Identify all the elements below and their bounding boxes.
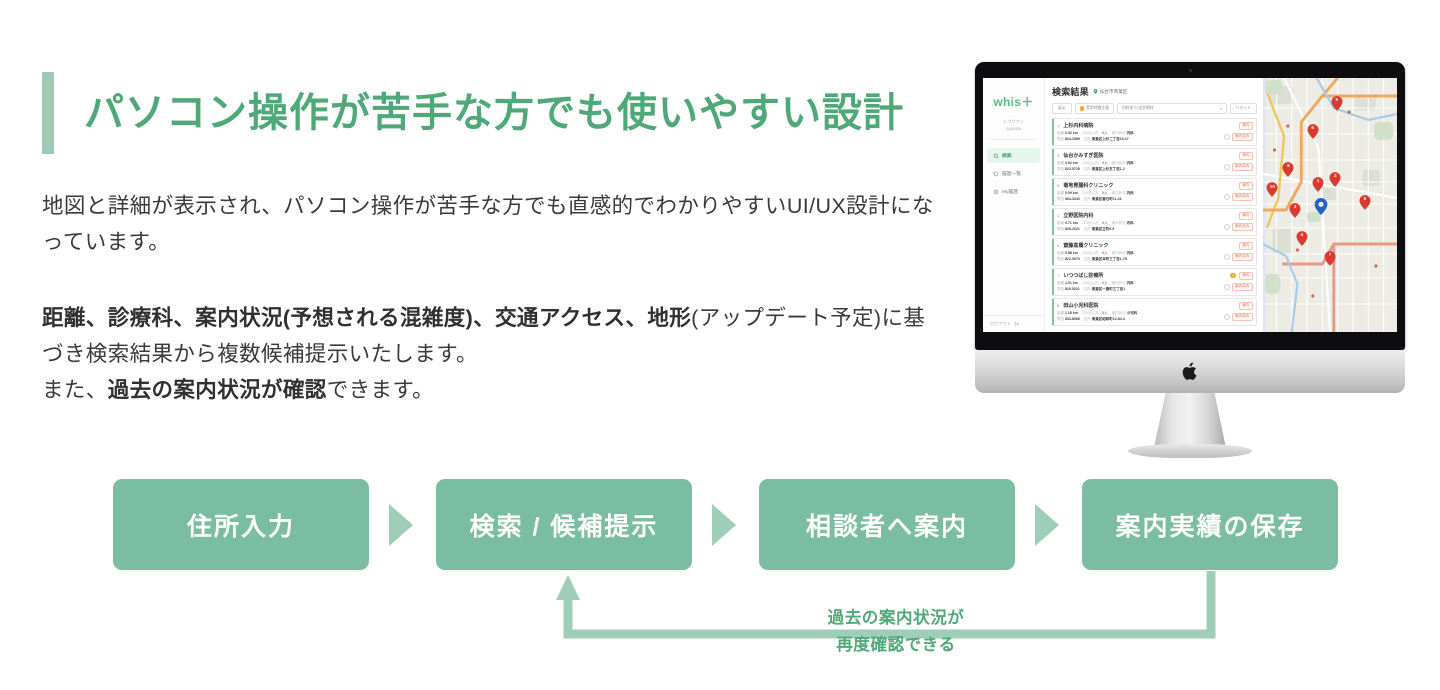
sidebar-item-label: My履歴	[1002, 188, 1018, 195]
distance-value: 1.16 km	[1065, 311, 1078, 315]
address-label: 住所	[1084, 257, 1091, 261]
checkbox-icon[interactable]	[1224, 164, 1230, 170]
imac-bezel: whis＋ レグザアイ ogasata 検索	[975, 62, 1405, 350]
alert-icon: !	[1230, 273, 1236, 279]
map-pin-number: 6	[1307, 126, 1318, 130]
result-row-body: 距離 1.01 km120分以内0人案内状況 内科電話 820-5221住所 青…	[1057, 281, 1253, 292]
result-index: 3.	[1057, 183, 1060, 188]
search-icon	[993, 153, 999, 159]
facility-name: いつつばし診療所	[1063, 272, 1227, 279]
address-value: 青葉区本町三丁目1-79	[1092, 257, 1127, 261]
meta-line-secondary: 電話 835-2021住所 青葉区立町6-9	[1057, 227, 1221, 232]
facility-name: 立野医院内科	[1063, 212, 1235, 219]
map-pin-number: 10	[1267, 185, 1278, 189]
map-pin-number: 7	[1325, 253, 1336, 257]
distance-label: 距離	[1057, 221, 1064, 225]
location-marker-icon	[1314, 198, 1327, 215]
distance-value: 0.32 km	[1065, 131, 1078, 135]
sidebar-item-search[interactable]: 検索	[987, 148, 1040, 163]
app-logo: whis＋	[983, 87, 1044, 118]
phone-label: 電話	[1057, 137, 1064, 141]
imac-stand-neck	[1154, 393, 1226, 448]
result-list-panel: 検索結果 仙台市青葉区 戻る	[1045, 78, 1263, 332]
flow-arrow-3	[1035, 504, 1059, 546]
result-index: 4.	[1057, 213, 1060, 218]
dept-value: 小児科	[1127, 311, 1138, 315]
description-paragraph-1: 地図と詳細が表示され、パソコン操作が苦手な方でも直感的でわかりやすいUI/UX設…	[42, 188, 942, 260]
guide-badge[interactable]: 案内	[1239, 302, 1253, 310]
result-index: 1.	[1057, 123, 1060, 128]
status-value: 0人	[1102, 221, 1107, 226]
meta-line-primary: 距離 0.88 km120分以内0人案内状況 内科	[1057, 251, 1221, 256]
status-label: 案内状況	[1112, 251, 1126, 255]
map-pin-9[interactable]: 9	[1331, 96, 1342, 111]
facility-name: 仙台かみすぎ医院	[1063, 152, 1235, 159]
distance-label: 距離	[1057, 161, 1064, 165]
map-panel[interactable]: 12345678910	[1263, 78, 1397, 332]
result-row[interactable]: 8.田山小児科医院案内距離 1.16 km120分以内0人案内状況 小児科電話 …	[1052, 298, 1257, 326]
map-pin-number: 9	[1331, 98, 1342, 102]
status-label: 案内状況	[1112, 311, 1126, 315]
address-value: 青葉区昭和町12-84-4	[1092, 317, 1125, 321]
distance-value: 0.62 km	[1065, 161, 1078, 165]
flow-step-1[interactable]: 住所入力	[113, 479, 369, 570]
guided-toggle[interactable]: 案内済み	[1224, 133, 1253, 141]
status-label: 案内状況	[1112, 131, 1126, 135]
department-filter-select[interactable]: 内科あり・全診療科 ▾	[1117, 103, 1227, 114]
map-pin-1[interactable]: 1	[1312, 177, 1323, 192]
filter-value: 内科あり・全診療科	[1122, 106, 1154, 111]
result-row[interactable]: 1.上杉内科病院案内距離 0.32 km120分以内0人案内状況 内科電話 83…	[1052, 118, 1257, 146]
distance-value: 0.59 km	[1065, 191, 1078, 195]
result-index: 8.	[1057, 303, 1060, 308]
result-row-header: 4.立野医院内科案内	[1057, 212, 1253, 220]
map-pin-3[interactable]: 3	[1290, 203, 1301, 218]
distance-label: 距離	[1057, 311, 1064, 315]
flow-arrow-2	[712, 504, 736, 546]
facility-meta: 距離 0.59 km120分以内0人案内状況 内科電話 964-3340住所 青…	[1057, 191, 1221, 202]
loop-caption-line-2: 再度確認できる	[790, 632, 1002, 659]
map-pin-number: 4	[1296, 233, 1307, 237]
address-label: 住所	[1084, 197, 1091, 201]
app-sidebar: whis＋ レグザアイ ogasata 検索	[983, 78, 1045, 332]
flow-step-4[interactable]: 案内実績の保存	[1082, 479, 1338, 570]
flow-arrow-1	[389, 504, 413, 546]
user-name: レグザアイ	[990, 118, 1037, 125]
meta-line-secondary: 電話 833-8066住所 青葉区昭和町12-84-4	[1057, 317, 1221, 322]
meta-line-primary: 距離 0.62 km120分以内0人案内状況 内科	[1057, 161, 1221, 166]
meta-line-primary: 距離 0.59 km120分以内0人案内状況 内科	[1057, 191, 1221, 196]
map-pin-2[interactable]: 2	[1330, 172, 1341, 187]
distance-value: 1.01 km	[1065, 281, 1078, 285]
warning-label: 受診時間注意	[1086, 106, 1109, 111]
distance-value: 0.71 km	[1065, 221, 1078, 225]
status-value: 0人	[1102, 191, 1107, 196]
guided-label: 案内済み	[1232, 253, 1253, 261]
dept-value: 内科	[1127, 281, 1134, 285]
status-value: 0人	[1102, 311, 1107, 316]
result-toolbar: 戻る 受診時間注意 内科あり・全診療科 ▾ リセット	[1052, 103, 1257, 114]
search-location: 仙台市青葉区	[1093, 89, 1128, 95]
flow-step-label: 住所入力	[187, 507, 295, 543]
map-pin-6[interactable]: 6	[1307, 124, 1318, 139]
description-paragraph-2: 距離、診療科、案内状況(予想される混雑度)、交通アクセス、地形(アップデート予定…	[42, 300, 947, 408]
address-value: 青葉区春日町11-33	[1092, 197, 1122, 201]
sidebar-item-label: 検索	[1002, 152, 1012, 159]
webcam-icon	[1189, 69, 1192, 72]
result-row-header: 5.齋藤高橋クリニック案内	[1057, 242, 1253, 250]
guide-badge[interactable]: 案内	[1239, 272, 1253, 280]
address-label: 住所	[1084, 137, 1091, 141]
heading-accent-bar	[42, 72, 54, 154]
warning-filter-button[interactable]: 受診時間注意	[1075, 103, 1114, 114]
logout-icon	[1014, 321, 1020, 327]
dept-value: 内科	[1127, 221, 1134, 225]
history-icon	[993, 171, 999, 177]
phone-value: 964-3340	[1065, 197, 1080, 201]
distance-label: 距離	[1057, 131, 1064, 135]
reset-button[interactable]: リセット	[1230, 103, 1257, 114]
result-row-header: 3.菊地胃腸科クリニック案内	[1057, 182, 1253, 190]
result-title: 検索結果	[1052, 85, 1089, 98]
distance-value: 0.88 km	[1065, 251, 1078, 255]
page-title: パソコン操作が苦手な方でも使いやすい設計	[84, 72, 904, 154]
meta-line-secondary: 電話 820-5221住所 青葉区一番町三丁目1	[1057, 287, 1221, 292]
guided-label: 案内済み	[1232, 193, 1253, 201]
status-label: 案内状況	[1112, 161, 1126, 165]
facility-name: 田山小児科医院	[1063, 302, 1235, 309]
time-label: 120分以内	[1082, 191, 1098, 196]
phone-label: 電話	[1057, 257, 1064, 261]
apple-logo-icon	[1181, 361, 1199, 382]
checkbox-icon[interactable]	[1224, 254, 1230, 260]
address-label: 住所	[1084, 227, 1091, 231]
location-label: 仙台市青葉区	[1100, 89, 1128, 95]
imac-mockup: whis＋ レグザアイ ogasata 検索	[975, 62, 1405, 412]
facility-meta: 距離 0.32 km120分以内0人案内状況 内科電話 834-1589住所 青…	[1057, 131, 1221, 142]
distance-label: 距離	[1057, 251, 1064, 255]
address-label: 住所	[1084, 317, 1091, 321]
para2-plain-3: できます。	[327, 378, 434, 402]
guided-label: 案内済み	[1232, 283, 1253, 291]
facility-meta: 距離 0.71 km120分以内0人案内状況 内科電話 835-2021住所 青…	[1057, 221, 1221, 232]
guided-label: 案内済み	[1232, 223, 1253, 231]
current-location-marker	[1314, 198, 1327, 215]
guided-label: 案内済み	[1232, 163, 1253, 171]
sidebar-item-label: 履歴一覧	[1002, 170, 1021, 177]
phone-value: 833-8066	[1065, 317, 1080, 321]
guided-toggle[interactable]: 案内済み	[1224, 223, 1253, 231]
app-main: 検索結果 仙台市青葉区 戻る	[1045, 78, 1397, 332]
distance-label: 距離	[1057, 191, 1064, 195]
checkbox-icon[interactable]	[1224, 284, 1230, 290]
guide-badge[interactable]: 案内	[1239, 212, 1253, 220]
map-pin-number: 2	[1330, 174, 1341, 178]
phone-value: 820-5221	[1065, 287, 1080, 291]
time-label: 120分以内	[1082, 281, 1098, 286]
flow-step-label: 案内実績の保存	[1115, 507, 1304, 543]
result-header: 検索結果 仙台市青葉区	[1052, 85, 1257, 98]
status-value: 0人	[1102, 281, 1107, 286]
guide-badge[interactable]: 案内	[1239, 182, 1253, 190]
sidebar-user: レグザアイ ogasata	[990, 118, 1037, 140]
dept-value: 内科	[1127, 131, 1134, 135]
phone-value: 822-3070	[1065, 257, 1080, 261]
map-pin-number: 3	[1290, 205, 1301, 209]
map-base	[1263, 78, 1397, 332]
checkbox-icon[interactable]	[1224, 314, 1230, 320]
map-pin-7[interactable]: 7	[1325, 251, 1336, 266]
result-row-body: 距離 0.59 km120分以内0人案内状況 内科電話 964-3340住所 青…	[1057, 191, 1253, 202]
logout-button[interactable]: ログアウト	[983, 315, 1044, 332]
time-label: 120分以内	[1082, 251, 1098, 256]
address-value: 青葉区立町6-9	[1092, 227, 1115, 231]
warning-icon	[1080, 106, 1085, 111]
phone-label: 電話	[1057, 167, 1064, 171]
status-label: 案内状況	[1112, 221, 1126, 225]
guided-label: 案内済み	[1232, 133, 1253, 141]
phone-label: 電話	[1057, 227, 1064, 231]
dept-value: 内科	[1127, 251, 1134, 255]
back-button[interactable]: 戻る	[1052, 103, 1072, 114]
para2-bold-1: 距離、診療科、案内状況(予想される混雑度)、交通アクセス、地形	[42, 306, 691, 330]
meta-line-primary: 距離 1.16 km120分以内0人案内状況 小児科	[1057, 311, 1221, 316]
imac-stand-base	[1128, 444, 1252, 458]
flow-step-label: 検索 / 候補提示	[470, 507, 659, 543]
distance-label: 距離	[1057, 281, 1064, 285]
result-row-header: 1.上杉内科病院案内	[1057, 122, 1253, 130]
phone-label: 電話	[1057, 287, 1064, 291]
status-value: 0人	[1102, 131, 1107, 136]
flow-step-label: 相談者へ案内	[806, 507, 968, 543]
guide-badge[interactable]: 案内	[1239, 122, 1253, 130]
map-pin-8[interactable]: 8	[1283, 162, 1294, 177]
phone-value: 622-5728	[1065, 167, 1080, 171]
meta-line-secondary: 電話 834-1589住所 青葉区上杉二丁目10-17	[1057, 137, 1221, 142]
checkbox-icon[interactable]	[1224, 224, 1230, 230]
time-label: 120分以内	[1082, 131, 1098, 136]
logout-label: ログアウト	[990, 321, 1011, 327]
result-row[interactable]: 5.齋藤高橋クリニック案内距離 0.88 km120分以内0人案内状況 内科電話…	[1052, 238, 1257, 266]
map-pin-10[interactable]: 10	[1267, 182, 1278, 197]
gear-icon	[993, 189, 999, 195]
facility-name: 菊地胃腸科クリニック	[1063, 182, 1235, 189]
map-pin-5[interactable]: 5	[1359, 195, 1370, 210]
map-pin-icon	[1093, 89, 1098, 94]
result-index: 7.	[1057, 273, 1060, 278]
status-value: 0人	[1102, 251, 1107, 256]
map-pin-4[interactable]: 4	[1296, 231, 1307, 246]
facility-meta: 距離 0.88 km120分以内0人案内状況 内科電話 822-3070住所 青…	[1057, 251, 1221, 262]
result-row[interactable]: 7.いつつばし診療所!案内距離 1.01 km120分以内0人案内状況 内科電話…	[1052, 268, 1257, 296]
time-label: 120分以内	[1082, 311, 1098, 316]
result-row-header: 8.田山小児科医院案内	[1057, 302, 1253, 310]
meta-line-primary: 距離 1.01 km120分以内0人案内状況 内科	[1057, 281, 1221, 286]
meta-line-secondary: 電話 822-3070住所 青葉区本町三丁目1-79	[1057, 257, 1221, 262]
guided-toggle[interactable]: 案内済み	[1224, 283, 1253, 291]
result-row-header: 2.仙台かみすぎ医院案内	[1057, 152, 1253, 160]
guided-label: 案内済み	[1232, 313, 1253, 321]
result-index: 5.	[1057, 243, 1060, 248]
result-row-header: 7.いつつばし診療所!案内	[1057, 272, 1253, 280]
dept-value: 内科	[1127, 191, 1134, 195]
app-screen: whis＋ レグザアイ ogasata 検索	[983, 78, 1397, 332]
result-row-body: 距離 1.16 km120分以内0人案内状況 小児科電話 833-8066住所 …	[1057, 311, 1253, 322]
result-row-body: 距離 0.32 km120分以内0人案内状況 内科電話 834-1589住所 青…	[1057, 131, 1253, 142]
meta-line-secondary: 電話 622-5728住所 青葉区上杉五丁目1-2	[1057, 167, 1221, 172]
guided-toggle[interactable]: 案内済み	[1224, 313, 1253, 321]
guide-badge[interactable]: 案内	[1239, 242, 1253, 250]
address-value: 青葉区上杉二丁目10-17	[1092, 137, 1129, 141]
flow-step-2[interactable]: 検索 / 候補提示	[436, 479, 692, 570]
time-label: 120分以内	[1082, 221, 1098, 226]
dept-value: 内科	[1127, 161, 1134, 165]
slide-canvas: パソコン操作が苦手な方でも使いやすい設計 地図と詳細が表示され、パソコン操作が苦…	[0, 0, 1440, 690]
result-row[interactable]: 4.立野医院内科案内距離 0.71 km120分以内0人案内状況 内科電話 83…	[1052, 208, 1257, 236]
para2-plain-2: また、	[42, 378, 108, 402]
sidebar-item-history[interactable]: 履歴一覧	[987, 166, 1040, 181]
address-value: 青葉区一番町三丁目1	[1092, 287, 1125, 291]
map-pin-number: 5	[1359, 197, 1370, 201]
address-label: 住所	[1084, 167, 1091, 171]
sidebar-item-my-history[interactable]: My履歴	[987, 184, 1040, 199]
checkbox-icon[interactable]	[1224, 134, 1230, 140]
guided-toggle[interactable]: 案内済み	[1224, 253, 1253, 261]
phone-value: 835-2021	[1065, 227, 1080, 231]
status-value: 0人	[1102, 161, 1107, 166]
guided-toggle[interactable]: 案内済み	[1224, 163, 1253, 171]
result-row[interactable]: 3.菊地胃腸科クリニック案内距離 0.59 km120分以内0人案内状況 内科電…	[1052, 178, 1257, 206]
status-label: 案内状況	[1112, 191, 1126, 195]
result-row-body: 距離 0.62 km120分以内0人案内状況 内科電話 622-5728住所 青…	[1057, 161, 1253, 172]
result-row-body: 距離 0.88 km120分以内0人案内状況 内科電話 822-3070住所 青…	[1057, 251, 1253, 262]
sidebar-spacer	[983, 202, 1044, 315]
status-label: 案内状況	[1112, 281, 1126, 285]
loop-caption-line-1: 過去の案内状況が	[790, 605, 1002, 632]
guide-badge[interactable]: 案内	[1239, 152, 1253, 160]
result-rows[interactable]: 1.上杉内科病院案内距離 0.32 km120分以内0人案内状況 内科電話 83…	[1052, 118, 1257, 332]
result-row[interactable]: 2.仙台かみすぎ医院案内距離 0.62 km120分以内0人案内状況 内科電話 …	[1052, 148, 1257, 176]
result-index: 2.	[1057, 153, 1060, 158]
phone-value: 834-1589	[1065, 137, 1080, 141]
facility-name: 上杉内科病院	[1063, 122, 1235, 129]
time-label: 120分以内	[1082, 161, 1098, 166]
flow-step-3[interactable]: 相談者へ案内	[759, 479, 1015, 570]
chevron-down-icon: ▾	[1220, 107, 1222, 111]
guided-toggle[interactable]: 案内済み	[1224, 193, 1253, 201]
meta-line-primary: 距離 0.32 km120分以内0人案内状況 内科	[1057, 131, 1221, 136]
facility-meta: 距離 1.01 km120分以内0人案内状況 内科電話 820-5221住所 青…	[1057, 281, 1221, 292]
map-pin-number: 8	[1283, 164, 1294, 168]
loop-caption: 過去の案内状況が 再度確認できる	[790, 605, 1002, 659]
phone-label: 電話	[1057, 197, 1064, 201]
page-heading: パソコン操作が苦手な方でも使いやすい設計	[42, 72, 904, 154]
facility-meta: 距離 1.16 km120分以内0人案内状況 小児科電話 833-8066住所 …	[1057, 311, 1221, 322]
phone-label: 電話	[1057, 317, 1064, 321]
map-pin-number: 1	[1312, 179, 1323, 183]
user-sub: ogasata	[990, 125, 1037, 132]
meta-line-primary: 距離 0.71 km120分以内0人案内状況 内科	[1057, 221, 1221, 226]
facility-name: 齋藤高橋クリニック	[1063, 242, 1235, 249]
address-value: 青葉区上杉五丁目1-2	[1092, 167, 1125, 171]
para2-bold-2: 過去の案内状況が確認	[108, 378, 327, 402]
result-row-body: 距離 0.71 km120分以内0人案内状況 内科電話 835-2021住所 青…	[1057, 221, 1253, 232]
facility-meta: 距離 0.62 km120分以内0人案内状況 内科電話 622-5728住所 青…	[1057, 161, 1221, 172]
checkbox-icon[interactable]	[1224, 194, 1230, 200]
meta-line-secondary: 電話 964-3340住所 青葉区春日町11-33	[1057, 197, 1221, 202]
address-label: 住所	[1084, 287, 1091, 291]
